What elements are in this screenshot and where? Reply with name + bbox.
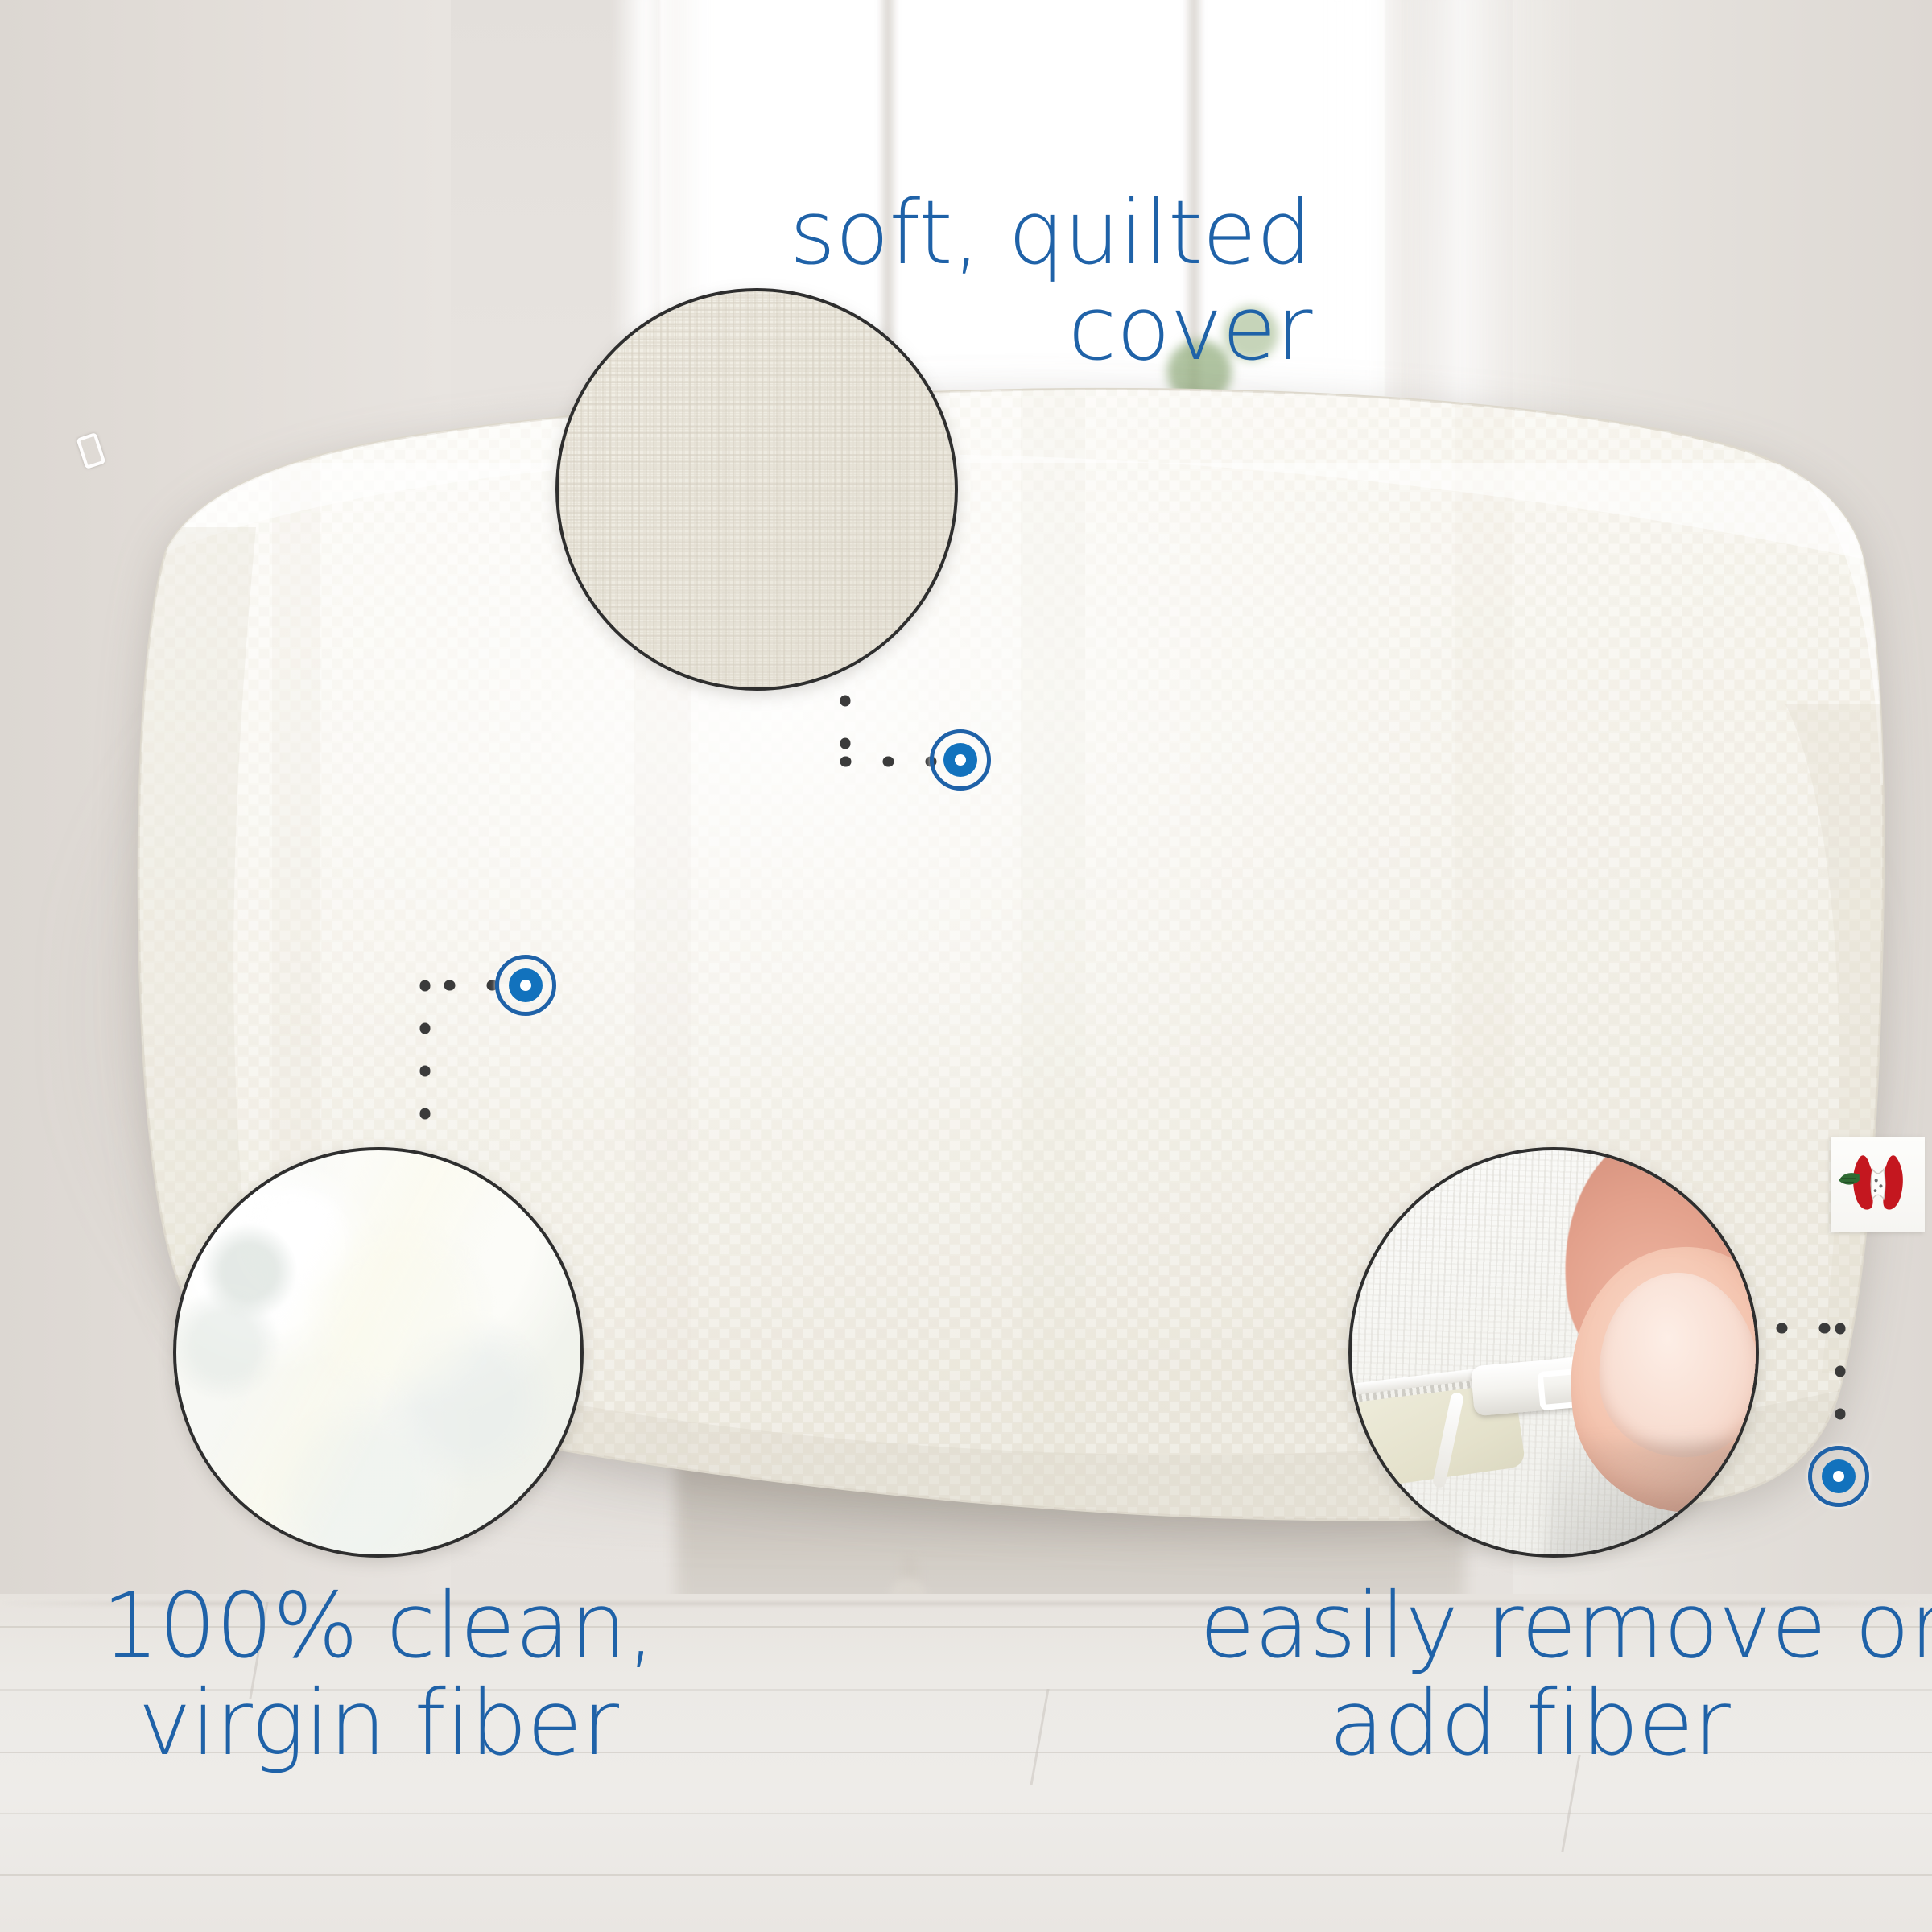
- callout-label-fiber: 100% clean, virgin fiber: [97, 1578, 660, 1773]
- callout-circle-zipper: [1348, 1147, 1759, 1558]
- callout-circle-virgin-fiber: [173, 1147, 584, 1558]
- callout-label-zipper-line1: easily remove or: [1199, 1578, 1860, 1675]
- zipper-corner-shadow: [1546, 1442, 1759, 1558]
- target-marker-fiber[interactable]: [495, 955, 556, 1016]
- callout-label-fiber-line1: 100% clean,: [97, 1578, 660, 1675]
- brand-tag: [1831, 1137, 1925, 1232]
- callout-label-fiber-line2: virgin fiber: [97, 1675, 660, 1773]
- callout-label-zipper-line2: add fiber: [1199, 1675, 1860, 1773]
- target-marker-zipper[interactable]: [1808, 1446, 1869, 1507]
- marker-core-icon: [1833, 1471, 1844, 1482]
- callout-label-cover-line1: soft, quilted: [749, 185, 1312, 281]
- marker-core-icon: [520, 980, 531, 991]
- callout-label-cover: soft, quilted cover: [749, 185, 1312, 377]
- target-marker-cover[interactable]: [930, 729, 991, 791]
- fiber-highlight: [176, 1150, 580, 1554]
- marker-core-icon: [955, 754, 966, 766]
- callout-label-cover-line2: cover: [749, 281, 1312, 377]
- infographic-canvas: soft, quilted cover 100% clean, virgin f…: [0, 0, 1932, 1932]
- apple-core-logo-icon: [1831, 1137, 1925, 1232]
- callout-label-zipper: easily remove or add fiber: [1199, 1578, 1860, 1773]
